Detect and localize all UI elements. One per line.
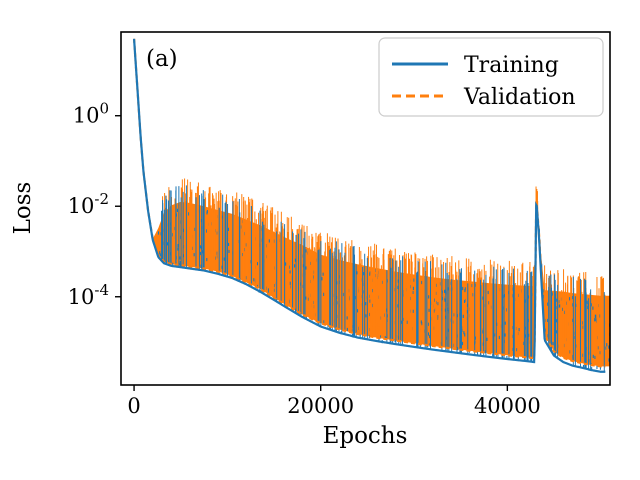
loss-curve-figure: 02000040000 10010-210-4 Epochs Loss (a) …: [0, 0, 640, 480]
x-tick-label: 0: [127, 394, 140, 418]
y-axis-label: Loss: [10, 182, 36, 235]
x-tick-label: 40000: [474, 394, 541, 418]
x-axis-label: Epochs: [323, 423, 408, 449]
legend-label-training: Training: [464, 53, 559, 78]
x-tick-label: 20000: [287, 394, 354, 418]
legend[interactable]: Training Validation: [379, 38, 603, 116]
panel-label: (a): [146, 46, 178, 72]
legend-label-validation: Validation: [463, 85, 576, 110]
chart-canvas: 02000040000 10010-210-4 Epochs Loss (a) …: [0, 0, 640, 480]
